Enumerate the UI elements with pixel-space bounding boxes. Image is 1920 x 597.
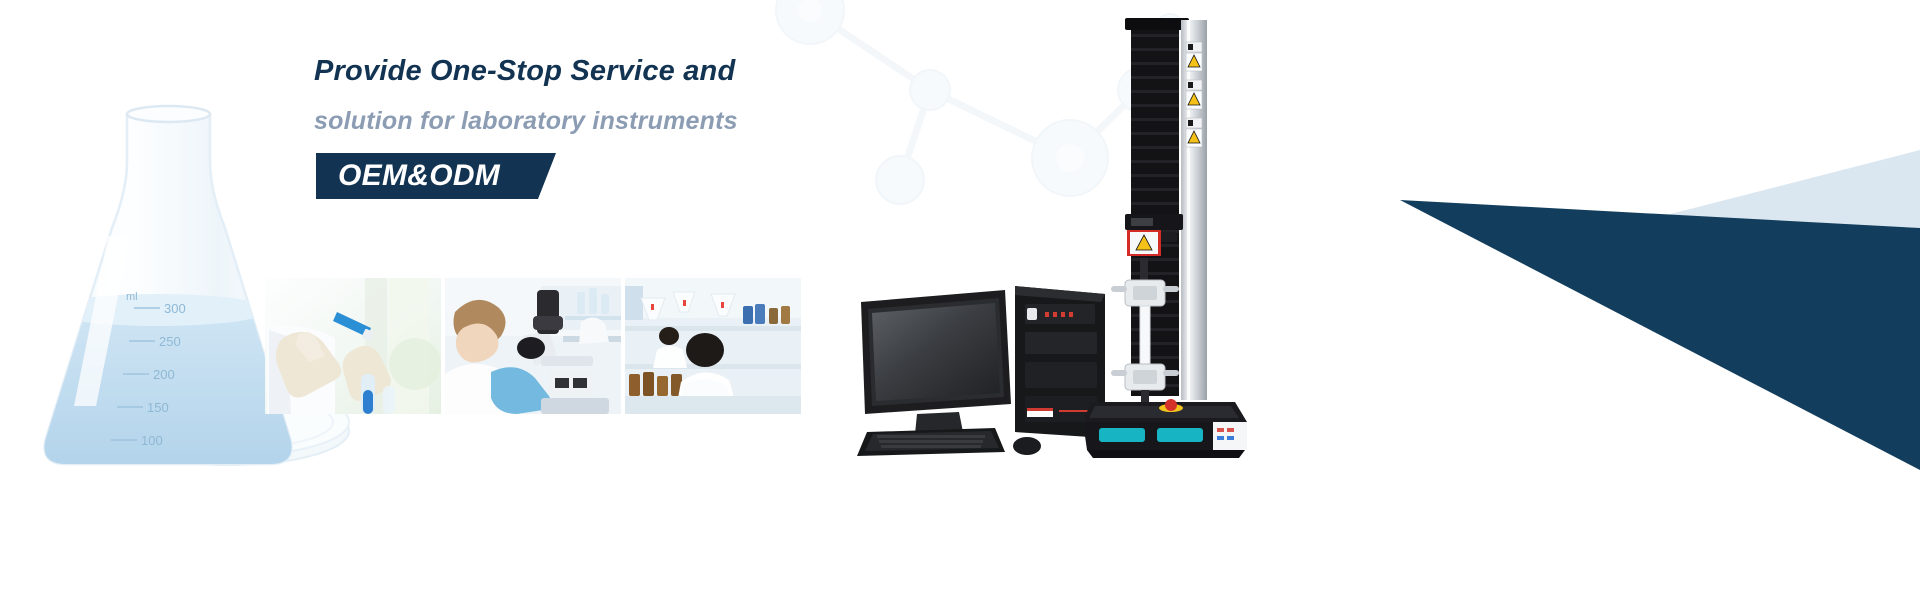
thumb-microscope bbox=[445, 278, 621, 414]
headline: Provide One-Stop Service and bbox=[314, 56, 954, 86]
utm-rail bbox=[1181, 20, 1207, 400]
thumbnail-strip bbox=[265, 278, 801, 414]
arrow-wedges bbox=[1200, 0, 1920, 597]
svg-text:250: 250 bbox=[159, 334, 181, 349]
promo-banner: 300 250 200 150 100 ml Provide One-Stop … bbox=[0, 0, 1920, 597]
light-arrow-wedge bbox=[1620, 150, 1920, 345]
svg-text:100: 100 bbox=[141, 433, 163, 448]
mouse bbox=[1013, 437, 1041, 455]
utm-specimen bbox=[1140, 306, 1150, 364]
flask-rim bbox=[127, 106, 210, 122]
svg-text:300: 300 bbox=[164, 301, 186, 316]
dark-arrow-wedge bbox=[1400, 200, 1920, 470]
svg-text:150: 150 bbox=[147, 400, 169, 415]
oem-odm-badge: OEM&ODM bbox=[316, 153, 556, 199]
utm-base bbox=[1085, 399, 1247, 458]
monitor bbox=[861, 290, 1011, 444]
warning-labels bbox=[1186, 42, 1202, 147]
svg-text:200: 200 bbox=[153, 367, 175, 382]
liquid-surface bbox=[46, 294, 270, 326]
subheadline: solution for laboratory instruments bbox=[314, 108, 954, 134]
keyboard bbox=[857, 428, 1005, 456]
thumb-lab-bench bbox=[625, 278, 801, 414]
headline-block: Provide One-Stop Service and solution fo… bbox=[314, 56, 954, 204]
utm-column bbox=[1131, 24, 1179, 396]
universal-testing-machine bbox=[1085, 18, 1265, 458]
svg-text:ml: ml bbox=[126, 291, 138, 303]
badge-label: OEM&ODM bbox=[338, 159, 500, 193]
thumb-pipetting bbox=[265, 278, 441, 414]
